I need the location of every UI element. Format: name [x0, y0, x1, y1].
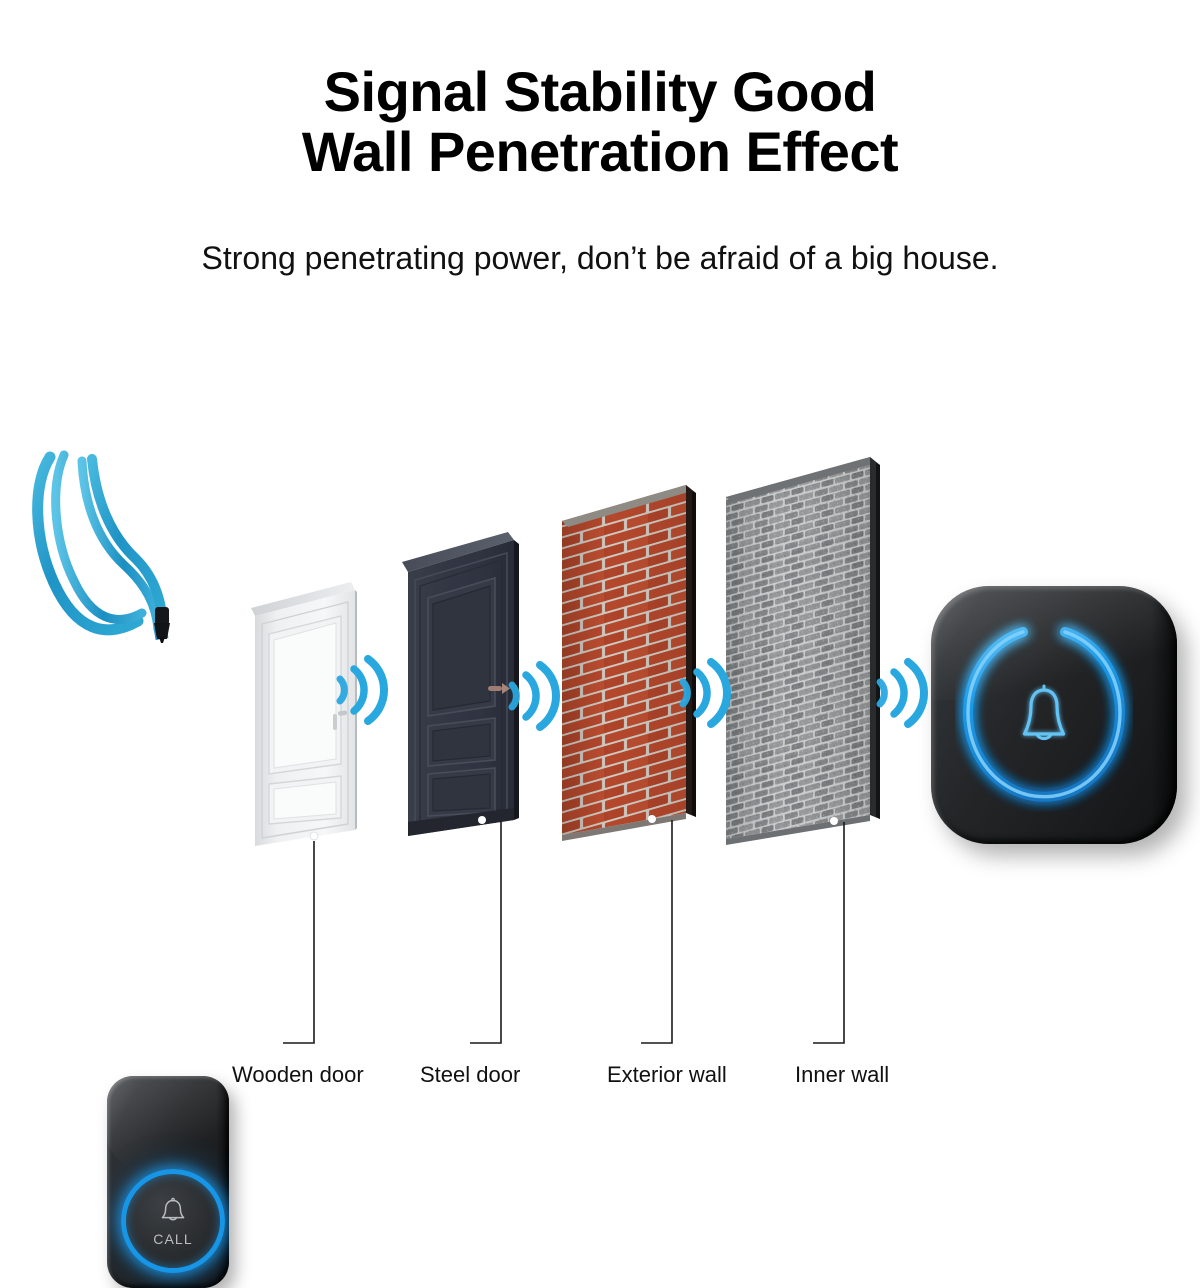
- caption-exterior-wall: Exterior wall: [607, 1062, 727, 1088]
- bell-icon: [1025, 690, 1064, 734]
- call-button-label: CALL: [153, 1231, 192, 1247]
- receiver-ring-and-bell: [955, 616, 1133, 812]
- call-button[interactable]: CALL: [121, 1169, 225, 1273]
- leader-lines: [0, 0, 1200, 1200]
- caption-steel-door: Steel door: [420, 1062, 520, 1088]
- bell-icon: [157, 1196, 189, 1228]
- illustration-scene: CALL: [0, 0, 1200, 1200]
- caption-wooden-door: Wooden door: [232, 1062, 364, 1088]
- caption-inner-wall: Inner wall: [795, 1062, 889, 1088]
